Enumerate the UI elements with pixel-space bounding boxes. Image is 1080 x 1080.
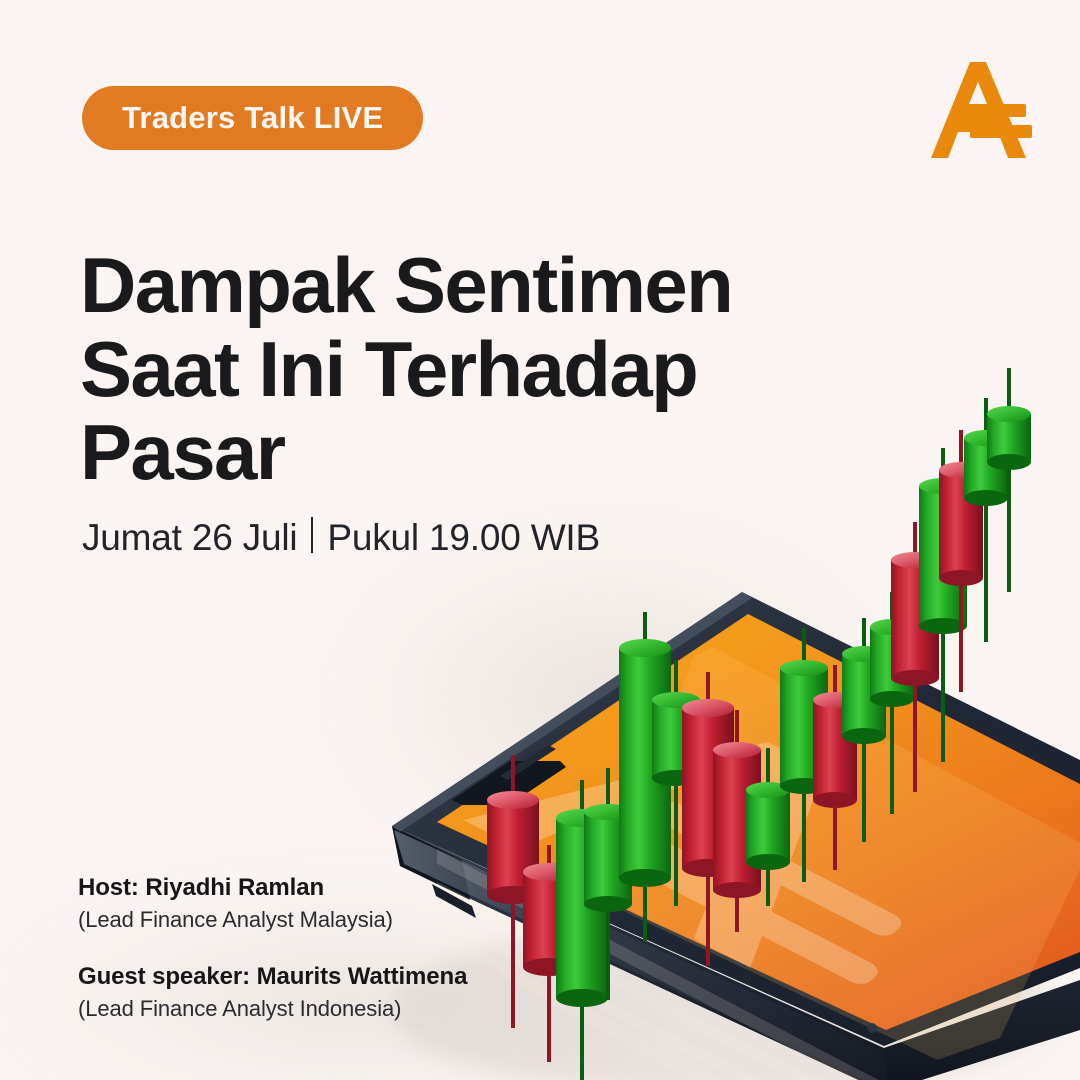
page-title: Dampak Sentimen Saat Ini Terhadap Pasar xyxy=(80,244,870,494)
phone-screen xyxy=(437,614,1080,1030)
phone-drop-shadow xyxy=(390,924,1050,1080)
host-credit: Host: Riyadhi Ramlan (Lead Finance Analy… xyxy=(78,874,467,933)
guest-credit: Guest speaker: Maurits Wattimena (Lead F… xyxy=(78,963,467,1022)
candle-red-4 xyxy=(713,710,761,932)
headline-line-1: Dampak Sentimen xyxy=(80,244,870,327)
guest-name: Guest speaker: Maurits Wattimena xyxy=(78,963,467,991)
screen-a-watermark xyxy=(463,668,998,1012)
candle-green-11 xyxy=(987,368,1031,592)
live-badge: Traders Talk LIVE xyxy=(82,86,423,150)
candle-green-4 xyxy=(652,660,700,906)
candle-green-2 xyxy=(584,768,632,1000)
screen-stripes xyxy=(430,846,1080,1080)
candle-red-2 xyxy=(523,845,575,1062)
brand-logo xyxy=(930,58,1038,162)
candle-green-3 xyxy=(619,612,671,942)
candle-green-5 xyxy=(746,748,790,906)
host-name: Host: Riyadhi Ramlan xyxy=(78,874,467,902)
candle-red-5 xyxy=(813,665,857,870)
host-role: (Lead Finance Analyst Malaysia) xyxy=(78,907,467,933)
candle-red-7 xyxy=(939,430,983,692)
speaker-credits: Host: Riyadhi Ramlan (Lead Finance Analy… xyxy=(78,874,467,1022)
candle-green-9 xyxy=(919,448,967,762)
headline-line-2: Saat Ini Terhadap xyxy=(80,328,870,411)
candle-red-3 xyxy=(682,672,734,966)
candle-red-6 xyxy=(891,522,939,792)
live-badge-label: Traders Talk LIVE xyxy=(122,100,383,136)
event-datetime: Jumat 26 Juli Pukul 19.00 WIB xyxy=(82,514,600,559)
guest-role: (Lead Finance Analyst Indonesia) xyxy=(78,996,467,1022)
candle-green-1 xyxy=(556,780,608,1080)
phone-device xyxy=(392,592,1080,1080)
poster-canvas: Traders Talk LIVE Dampak Sentimen Saat I… xyxy=(0,0,1080,1080)
event-time: Pukul 19.00 WIB xyxy=(327,517,600,559)
candle-green-10 xyxy=(964,398,1008,642)
headline-line-3: Pasar xyxy=(80,411,870,494)
candle-green-8 xyxy=(870,592,914,814)
candle-red-1 xyxy=(487,755,539,1028)
datetime-separator xyxy=(311,517,313,553)
background-glow-upper xyxy=(330,520,890,880)
a-logo-mark xyxy=(931,62,1032,158)
candle-green-6 xyxy=(780,628,828,882)
phone-notch xyxy=(452,761,566,805)
event-date: Jumat 26 Juli xyxy=(82,517,297,559)
candle-green-7 xyxy=(842,618,886,842)
